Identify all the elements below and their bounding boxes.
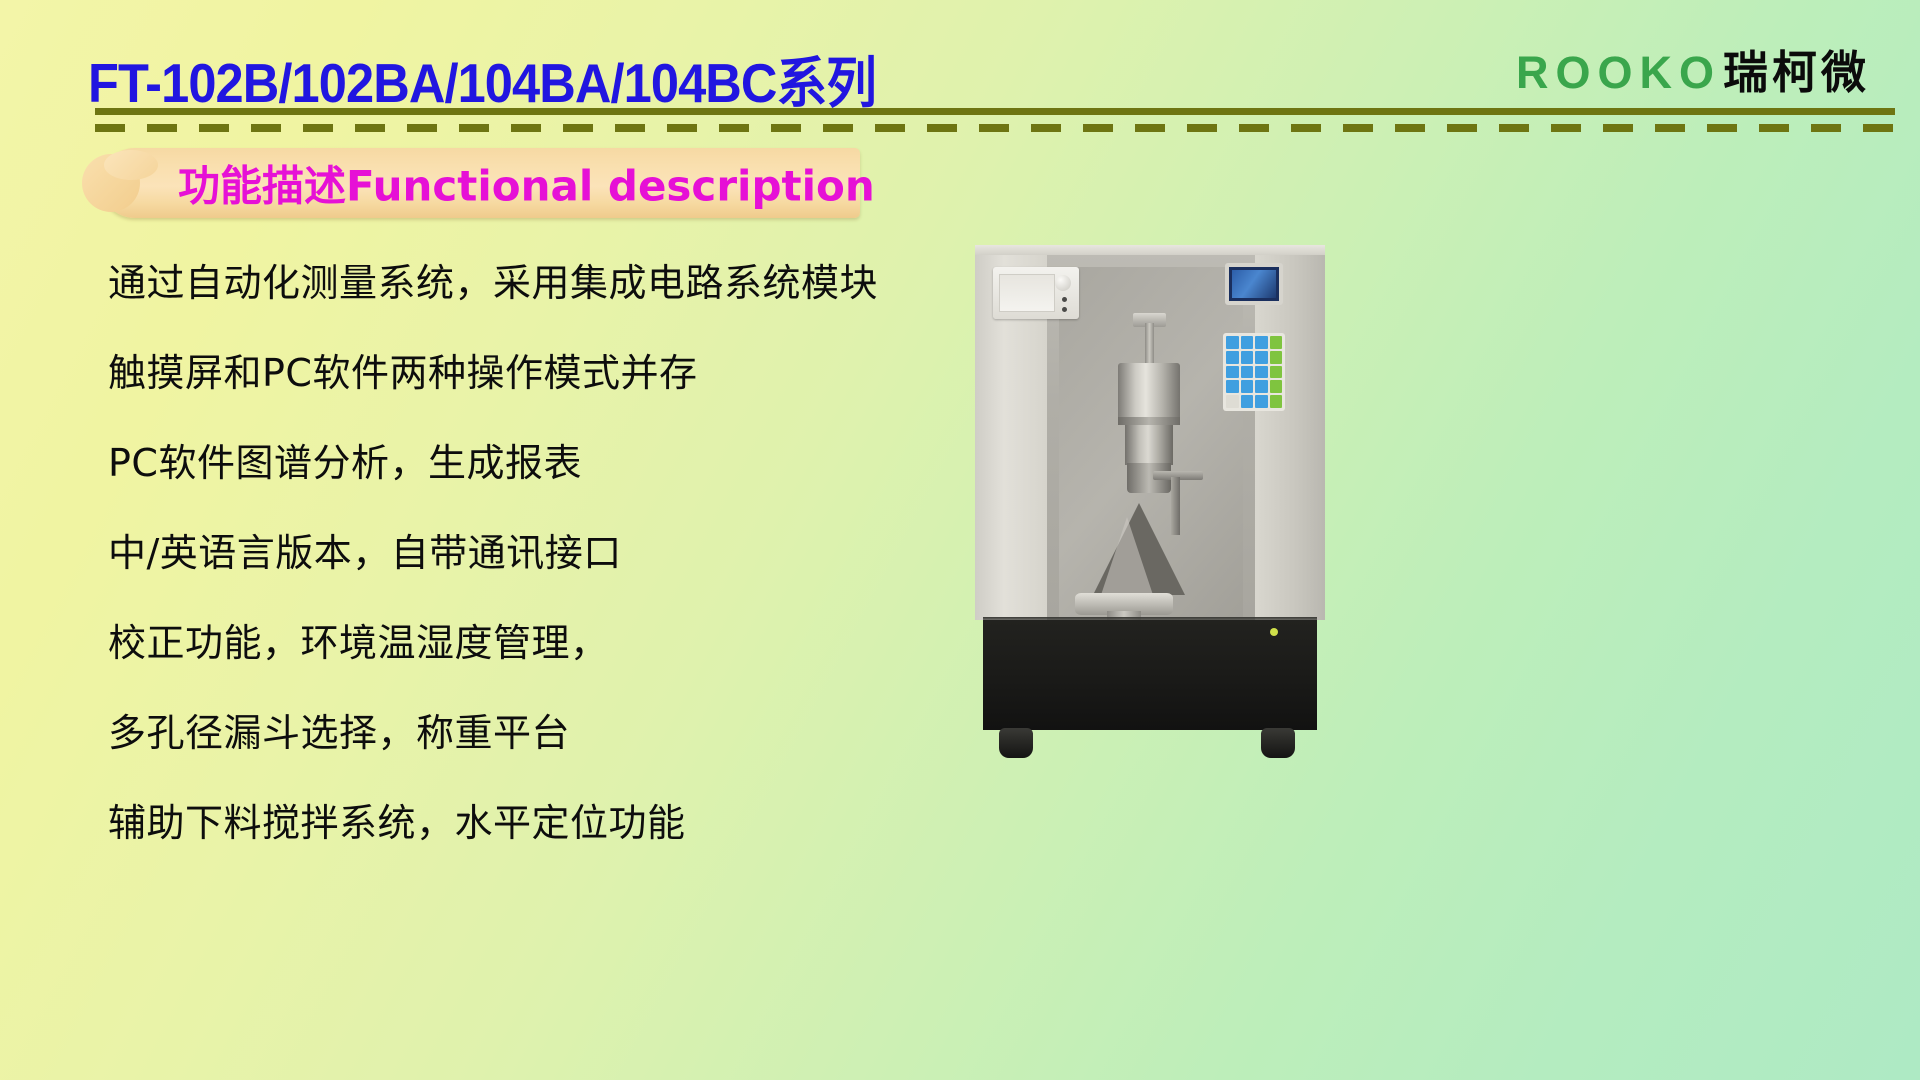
- list-item: 触摸屏和PC软件两种操作模式并存: [108, 328, 928, 418]
- list-item: 中/英语言版本，自带通讯接口: [108, 508, 928, 598]
- lcd-display-screen: [1232, 270, 1276, 298]
- section-banner-label: 功能描述Functional description: [178, 153, 875, 214]
- keypad-key: [1270, 366, 1283, 379]
- product-photo: [975, 245, 1325, 760]
- keypad-key: [1241, 336, 1254, 349]
- keypad-key: [1226, 351, 1239, 364]
- keypad-key: [1226, 366, 1239, 379]
- keypad-key: [1226, 380, 1239, 393]
- keypad-key: [1270, 351, 1283, 364]
- keypad-key: [1241, 380, 1254, 393]
- funnel-cylinder-lower: [1125, 425, 1173, 465]
- keypad-key: [1226, 336, 1239, 349]
- keypad-key: [1255, 351, 1268, 364]
- section-banner: 功能描述Functional description: [100, 148, 860, 218]
- instrument-foot: [999, 728, 1033, 758]
- keypad-key: [1270, 395, 1283, 408]
- keypad-key: [1270, 380, 1283, 393]
- funnel-cylinder-upper: [1118, 363, 1180, 421]
- feature-list: 通过自动化测量系统，采用集成电路系统模块 触摸屏和PC软件两种操作模式并存 PC…: [108, 238, 928, 868]
- brand-logo: ROOKO 瑞柯微: [1516, 36, 1870, 101]
- keypad-key: [1255, 395, 1268, 408]
- header-divider-dashed: [95, 124, 1895, 132]
- keypad-key: [1255, 366, 1268, 379]
- page-header: FT-102B/102BA/104BA/104BC系列 ROOKO 瑞柯微: [0, 0, 1920, 140]
- keypad-key: [1226, 395, 1239, 408]
- keypad-key: [1270, 336, 1283, 349]
- thermal-printer-icon: [993, 267, 1079, 319]
- keypad-key: [1241, 395, 1254, 408]
- list-item: 校正功能，环境温湿度管理，: [108, 598, 928, 688]
- power-led-icon: [1270, 628, 1278, 636]
- printer-knob-icon: [1055, 275, 1071, 291]
- funnel-clamp-band: [1118, 417, 1180, 425]
- keypad-key: [1241, 351, 1254, 364]
- lcd-display: [1225, 263, 1283, 305]
- keypad-key: [1255, 380, 1268, 393]
- list-item: 通过自动化测量系统，采用集成电路系统模块: [108, 238, 928, 328]
- printer-led-icon: [1062, 297, 1067, 302]
- cabinet-top-rail: [975, 245, 1325, 255]
- keypad-key: [1255, 336, 1268, 349]
- instrument-foot: [1261, 728, 1295, 758]
- column-rod: [1145, 323, 1154, 365]
- list-item: 辅助下料搅拌系统，水平定位功能: [108, 778, 928, 868]
- list-item: PC软件图谱分析，生成报表: [108, 418, 928, 508]
- keypad-key: [1241, 366, 1254, 379]
- printer-paper-slot: [999, 274, 1055, 312]
- membrane-keypad: [1223, 333, 1285, 411]
- powder-cone-highlight: [1101, 517, 1153, 595]
- brand-logo-chinese: 瑞柯微: [1723, 36, 1870, 101]
- brand-logo-latin: ROOKO: [1516, 47, 1721, 99]
- list-item: 多孔径漏斗选择，称重平台: [108, 688, 928, 778]
- header-divider-solid: [95, 108, 1895, 115]
- instrument-base: [983, 620, 1317, 730]
- printer-led-icon: [1062, 307, 1067, 312]
- page-title: FT-102B/102BA/104BA/104BC系列: [88, 38, 876, 118]
